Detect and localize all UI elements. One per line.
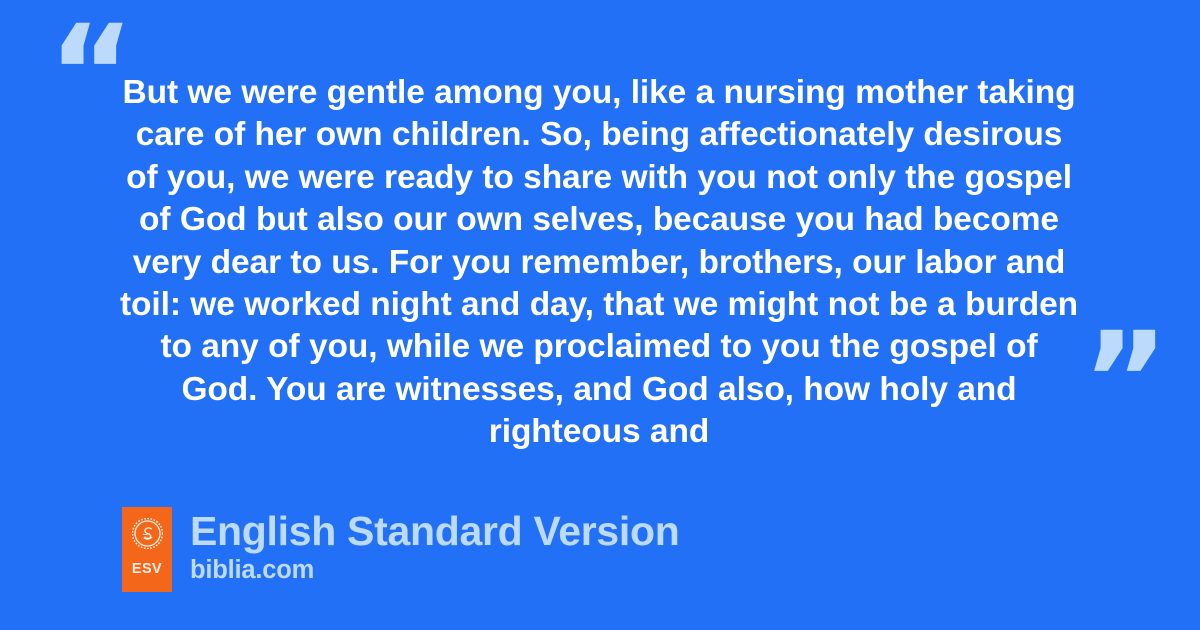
quote-block: But we were gentle among you, like a nur… <box>118 72 1080 454</box>
footer-text-group: English Standard Version biblia.com <box>190 507 679 585</box>
esv-logo: ESV <box>122 507 172 592</box>
attribution-footer: ESV English Standard Version biblia.com <box>122 507 679 592</box>
bible-version-name: English Standard Version <box>190 508 679 555</box>
esv-abbreviation-label: ESV <box>132 562 162 577</box>
closing-quote-icon: ” <box>1082 315 1167 447</box>
site-url-label: biblia.com <box>190 556 679 585</box>
quote-text: But we were gentle among you, like a nur… <box>118 72 1080 454</box>
esv-seal-icon <box>132 518 163 549</box>
bible-verse-card: “ But we were gentle among you, like a n… <box>0 0 1200 630</box>
